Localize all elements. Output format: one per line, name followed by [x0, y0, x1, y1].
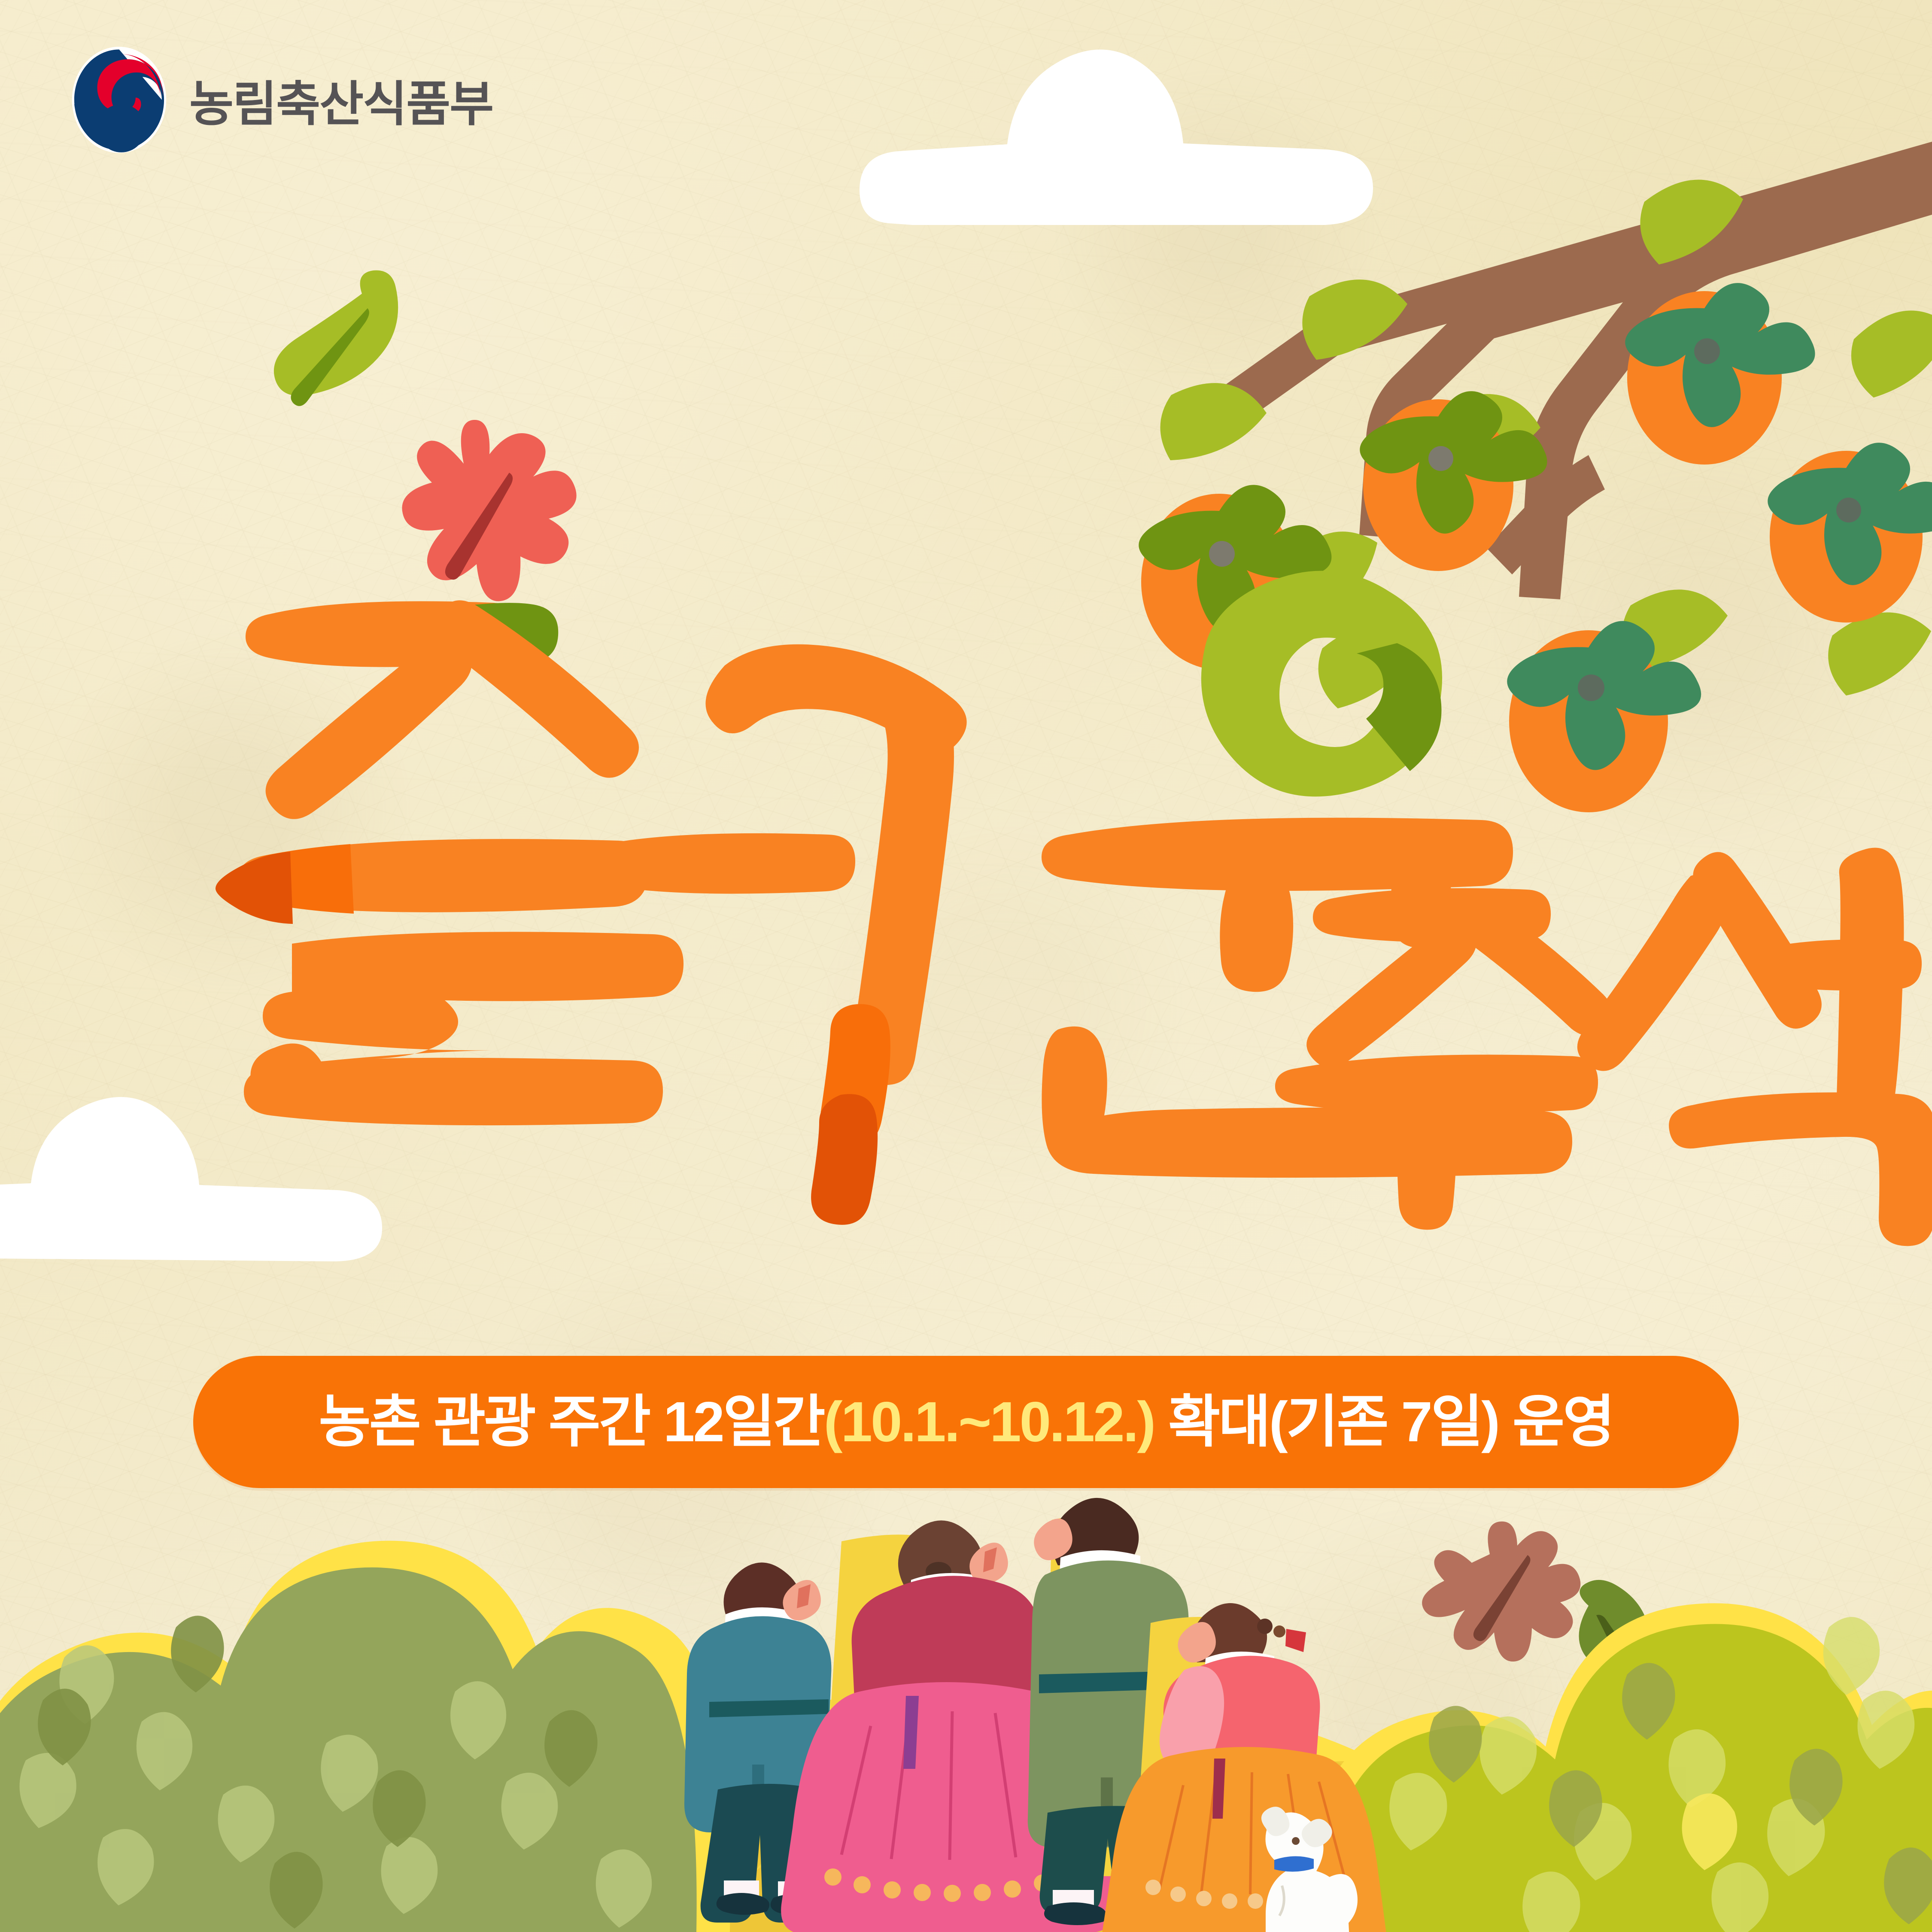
- ministry-logo-group: 농림축산식품부: [64, 45, 493, 155]
- foreground-landscape-layer: [0, 0, 1932, 1932]
- bush-cluster-right: [1304, 1603, 1932, 1932]
- banner-suffix: 확대(기존 7일) 운영: [1154, 1390, 1613, 1453]
- ministry-name-label: 농림축산식품부: [189, 65, 493, 135]
- banner-prefix: 농촌 관광 주간 12일간: [319, 1390, 823, 1453]
- bush-cluster-left: [0, 1541, 730, 1932]
- banner-text: 농촌 관광 주간 12일간(10.1.~10.12.) 확대(기존 7일) 운영: [319, 1394, 1613, 1450]
- chuseok-promotion-poster: 농림축산식품부 즐거운 추석: [0, 0, 1932, 1932]
- campaign-banner[interactable]: 농촌 관광 주간 12일간(10.1.~10.12.) 확대(기존 7일) 운영: [193, 1356, 1739, 1488]
- banner-dates: (10.1.~10.12.): [824, 1390, 1154, 1453]
- korean-government-taegeuk-emblem-icon: [64, 45, 174, 155]
- family-group: [684, 1498, 1386, 1932]
